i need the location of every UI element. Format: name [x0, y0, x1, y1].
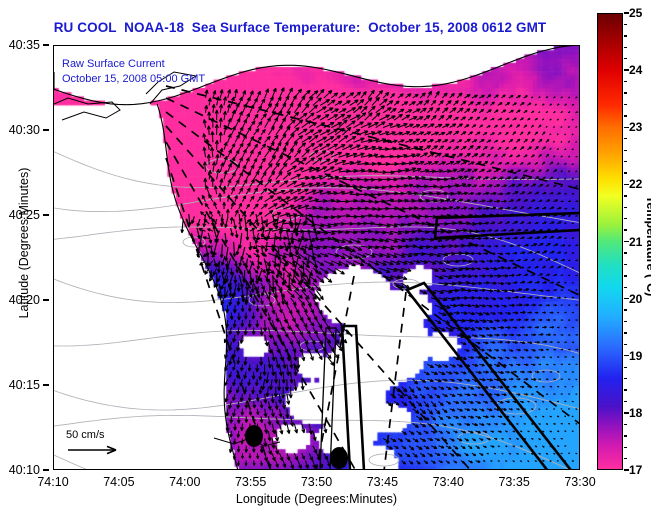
y-tick-label: 40:10	[9, 463, 40, 477]
y-tick-mark	[43, 384, 49, 385]
colorbar-tick-mark	[624, 12, 629, 13]
y-tick-label: 40:35	[9, 38, 40, 52]
x-tick-label: 73:55	[235, 475, 266, 489]
vector-scale-label: 50 cm/s	[66, 429, 126, 441]
y-axis-label: Latitude (Degrees:Minutes)	[17, 133, 31, 353]
colorbar-tick-label: 22	[629, 177, 642, 191]
colorbar-tick-label: 21	[629, 235, 642, 249]
map-canvas	[54, 46, 579, 469]
colorbar-tick-label: 23	[629, 120, 642, 134]
colorbar-minor-tick	[624, 332, 627, 333]
temperature-colorbar	[597, 13, 623, 470]
colorbar-minor-tick	[624, 229, 627, 230]
colorbar-minor-tick	[624, 424, 627, 425]
y-tick-mark	[43, 469, 49, 470]
bathymetry-contour-closed	[458, 432, 490, 444]
colorbar-tick-label: 18	[629, 406, 642, 420]
colorbar-tick-label: 24	[629, 63, 642, 77]
annotation-line-1: Raw Surface Current	[62, 58, 165, 70]
colorbar-tick-mark	[624, 69, 629, 70]
colorbar-minor-tick	[624, 287, 627, 288]
colorbar-tick-mark	[624, 298, 629, 299]
x-axis-label: Longitude (Degrees:Minutes)	[53, 492, 580, 506]
colorbar-tick-mark	[624, 412, 629, 413]
colorbar-tick-mark	[624, 127, 629, 128]
y-tick-mark	[43, 129, 49, 130]
colorbar-minor-tick	[624, 47, 627, 48]
x-tick-label: 73:45	[367, 475, 398, 489]
x-tick-label: 73:35	[498, 475, 529, 489]
y-tick-mark	[43, 44, 49, 45]
colorbar-minor-tick	[624, 321, 627, 322]
station-marker[interactable]	[330, 447, 348, 469]
colorbar-tick-mark	[624, 355, 629, 356]
x-tick-label: 74:00	[169, 475, 200, 489]
colorbar-tick-label: 19	[629, 349, 642, 363]
colorbar-minor-tick	[624, 264, 627, 265]
colorbar-minor-tick	[624, 150, 627, 151]
colorbar-minor-tick	[624, 378, 627, 379]
colorbar-minor-tick	[624, 195, 627, 196]
colorbar-minor-tick	[624, 252, 627, 253]
colorbar-tick-mark	[624, 469, 629, 470]
colorbar-minor-tick	[624, 35, 627, 36]
colorbar-minor-tick	[624, 81, 627, 82]
colorbar-minor-tick	[624, 104, 627, 105]
figure-title: RU COOL NOAA-18 Sea Surface Temperature:…	[0, 20, 600, 35]
y-tick-label: 40:15	[9, 378, 40, 392]
current-arrow	[199, 88, 578, 469]
colorbar-minor-tick	[624, 58, 627, 59]
bathymetry-contour	[54, 415, 579, 470]
bathymetry-contour-closed	[369, 454, 399, 466]
colorbar-minor-tick	[624, 435, 627, 436]
vector-scale-key: 50 cm/s	[66, 429, 126, 457]
colorbar-label: Temperature (°C)	[644, 151, 651, 341]
colorbar-minor-tick	[624, 92, 627, 93]
colorbar-tick-mark	[624, 241, 629, 242]
colorbar-minor-tick	[624, 447, 627, 448]
colorbar-minor-tick	[624, 24, 627, 25]
map-overlay-layer	[54, 46, 580, 470]
colorbar-minor-tick	[624, 275, 627, 276]
vector-scale-arrow-icon	[66, 443, 126, 457]
colorbar-minor-tick	[624, 207, 627, 208]
survey-box-diagonal[interactable]	[407, 283, 580, 470]
y-tick-mark	[43, 299, 49, 300]
colorbar-minor-tick	[624, 161, 627, 162]
x-tick-label: 73:50	[301, 475, 332, 489]
colorbar-minor-tick	[624, 172, 627, 173]
colorbar-minor-tick	[624, 389, 627, 390]
colorbar-minor-tick	[624, 344, 627, 345]
colorbar-minor-tick	[624, 401, 627, 402]
x-tick-label: 73:40	[433, 475, 464, 489]
colorbar-minor-tick	[624, 218, 627, 219]
colorbar-minor-tick	[624, 309, 627, 310]
x-tick-label: 74:10	[37, 475, 68, 489]
survey-box-vertical[interactable]	[342, 326, 364, 470]
y-tick-mark	[43, 214, 49, 215]
colorbar-tick-label: 20	[629, 292, 642, 306]
colorbar-minor-tick	[624, 115, 627, 116]
map-plot-area[interactable]: Raw Surface Current October 15, 2008 05:…	[53, 45, 580, 470]
colorbar-minor-tick	[624, 458, 627, 459]
annotation-line-2: October 15, 2008 05:00 GMT	[62, 73, 205, 85]
colorbar-tick-label: 25	[629, 6, 642, 20]
x-axis-ticks: 74:1074:0574:0073:5573:5073:4573:4073:35…	[53, 472, 580, 492]
x-tick-label: 73:30	[564, 475, 595, 489]
coastline-bay	[54, 98, 120, 120]
x-tick-label: 74:05	[103, 475, 134, 489]
colorbar-tick-mark	[624, 184, 629, 185]
current-vector-field	[181, 88, 578, 469]
bathymetry-contour	[54, 380, 579, 410]
sst-map-figure: RU COOL NOAA-18 Sea Surface Temperature:…	[0, 0, 651, 518]
colorbar-minor-tick	[624, 138, 627, 139]
colorbar-tick-label: 17	[629, 463, 642, 477]
colorbar-minor-tick	[624, 367, 627, 368]
